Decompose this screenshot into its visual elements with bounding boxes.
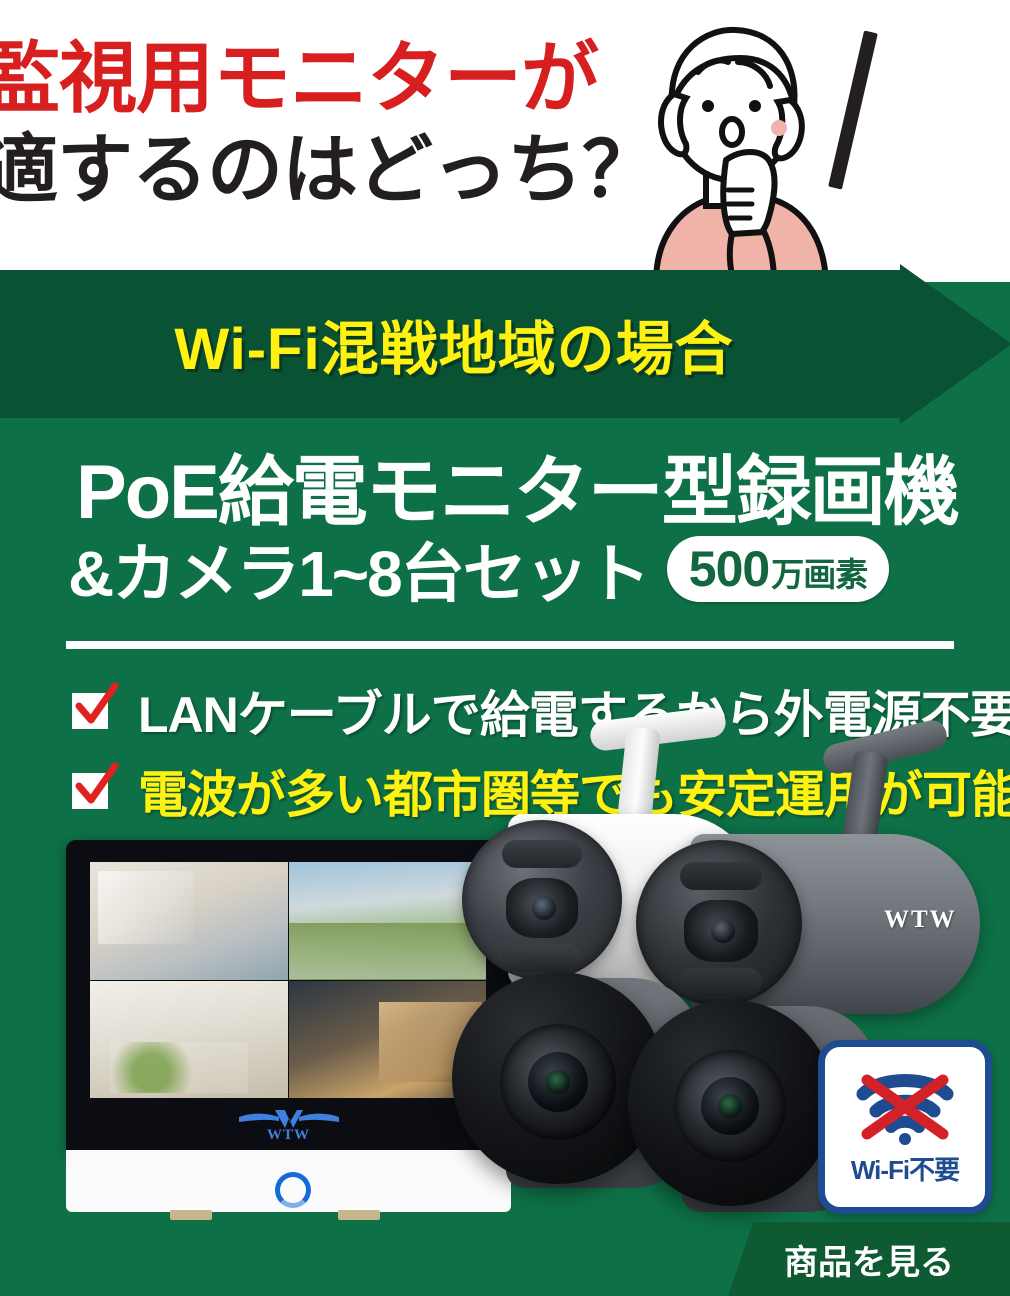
checkmark-icon [72, 773, 108, 809]
camera-face [628, 1000, 834, 1206]
header-section: 監視用モニターが 適するのはどっち？ [0, 0, 1010, 282]
resolution-value: 500 [689, 536, 769, 602]
ir-led-top [680, 862, 762, 890]
resolution-badge: 500 万画素 [667, 536, 889, 602]
view-product-button[interactable]: 商品を見る [728, 1222, 1010, 1296]
ir-led-bottom [502, 944, 582, 972]
ir-led-top [502, 840, 582, 868]
resolution-unit: 万画素 [771, 542, 867, 608]
arrow-banner: Wi-Fi混戦地域の場合 [0, 270, 1010, 418]
camera-brand-label: WTW [884, 906, 957, 934]
wifi-crossed-icon [853, 1070, 957, 1148]
camera-lens [500, 1024, 616, 1140]
camera-lens [684, 900, 758, 962]
monitor-foot-right [338, 1210, 380, 1220]
arrow-banner-label: Wi-Fi混戦地域の場合 [0, 270, 908, 418]
thinking-woman-icon [628, 14, 843, 282]
monitor-screen [90, 862, 486, 1098]
screen-quadrant-1 [90, 862, 288, 980]
wtw-wordmark: WTW [267, 1127, 310, 1144]
power-indicator-icon [275, 1172, 311, 1208]
advertisement-banner[interactable]: 監視用モニターが 適するのはどっち？ [0, 0, 1010, 1296]
arrow-head-icon [900, 264, 1010, 424]
view-product-label: 商品を見る [784, 1235, 954, 1284]
camera-face [462, 820, 622, 980]
screen-quadrant-3 [90, 981, 288, 1099]
headline-black: 適するのはどっち？ [0, 108, 657, 218]
divider-line [66, 641, 954, 649]
checkmark-icon [72, 693, 108, 729]
product-title-line2: &カメラ1~8台セット [68, 523, 649, 615]
camera-lens [674, 1050, 786, 1162]
product-title-line2-row: &カメラ1~8台セット 500 万画素 [68, 528, 988, 610]
wifi-badge-label: Wi-Fi不要 [851, 1150, 959, 1187]
camera-lens [506, 878, 578, 938]
wifi-not-required-badge: Wi-Fi不要 [818, 1040, 992, 1214]
monitor-foot-left [170, 1210, 212, 1220]
